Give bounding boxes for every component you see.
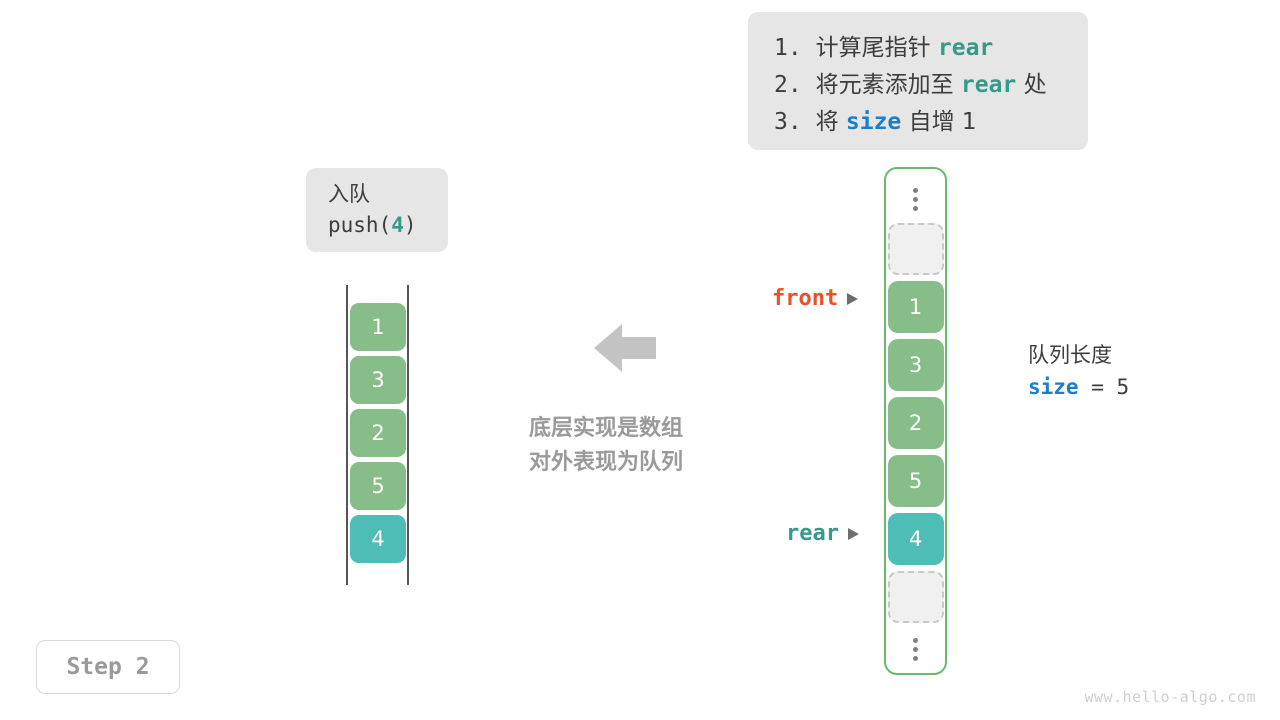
push-operation-panel: 入队 push(4) <box>306 168 448 252</box>
queue-cell: 2 <box>350 409 406 457</box>
push-title: 入队 <box>328 179 448 210</box>
instruction-line-1: 1. 计算尾指针 rear <box>774 30 1062 67</box>
caption-line-2: 对外表现为队列 <box>529 446 683 480</box>
caption: 底层实现是数组 对外表现为队列 <box>529 412 683 480</box>
instruction-panel: 1. 计算尾指针 rear 2. 将元素添加至 rear 处 3. 将 size… <box>748 12 1088 150</box>
instruction-keyword-rear-1: rear <box>938 35 993 61</box>
instruction-text-2a: 将元素添加至 <box>816 72 961 98</box>
push-call: push(4) <box>328 210 448 241</box>
queue-cell: 3 <box>350 356 406 404</box>
instruction-text-2b: 处 <box>1016 72 1046 98</box>
dot <box>913 656 918 661</box>
size-equals: = <box>1079 375 1117 399</box>
instruction-text-3b: 自增 1 <box>901 109 976 135</box>
push-call-suffix: ) <box>404 213 417 237</box>
instruction-keyword-size: size <box>846 109 901 135</box>
instruction-index-3: 3. <box>774 109 802 135</box>
push-call-value: 4 <box>391 213 404 237</box>
push-call-prefix: push( <box>328 213 391 237</box>
array-slot-new: 4 <box>888 513 944 565</box>
size-value: 5 <box>1117 375 1130 399</box>
array-slot-empty <box>888 571 944 623</box>
queue-cell: 1 <box>350 303 406 351</box>
array-slot-list: 1 3 2 5 4 <box>888 179 944 673</box>
queue-cell-new: 4 <box>350 515 406 563</box>
instruction-text-1a: 计算尾指针 <box>816 35 938 61</box>
rear-pointer-text: rear <box>786 521 839 546</box>
instruction-index-2: 2. <box>774 72 802 98</box>
rear-pointer-label: rear <box>786 521 859 546</box>
queue-cell: 5 <box>350 462 406 510</box>
queue-view-column: 1 3 2 5 4 <box>340 280 416 592</box>
rear-arrow-icon <box>848 528 859 540</box>
array-slot: 3 <box>888 339 944 391</box>
size-variable-name: size <box>1028 375 1079 399</box>
instruction-text-3a: 将 <box>816 109 846 135</box>
diagram-canvas: 1. 计算尾指针 rear 2. 将元素添加至 rear 处 3. 将 size… <box>0 0 1280 720</box>
dot <box>913 197 918 202</box>
dot <box>913 638 918 643</box>
array-view-container: 1 3 2 5 4 <box>884 167 947 675</box>
queue-cell-list: 1 3 2 5 4 <box>350 303 406 568</box>
instruction-index-1: 1. <box>774 35 802 61</box>
front-arrow-icon <box>847 293 858 305</box>
size-note: 队列长度 size = 5 <box>1028 340 1129 404</box>
size-note-value: size = 5 <box>1028 370 1129 404</box>
array-slot: 5 <box>888 455 944 507</box>
size-note-title: 队列长度 <box>1028 340 1129 370</box>
instruction-keyword-rear-2: rear <box>961 72 1016 98</box>
array-ellipsis-top-icon <box>888 179 944 219</box>
array-slot-empty <box>888 223 944 275</box>
array-slot: 1 <box>888 281 944 333</box>
dot <box>913 188 918 193</box>
step-badge: Step 2 <box>36 640 180 694</box>
instruction-line-2: 2. 将元素添加至 rear 处 <box>774 67 1062 104</box>
dot <box>913 206 918 211</box>
caption-line-1: 底层实现是数组 <box>529 412 683 446</box>
dot <box>913 647 918 652</box>
front-pointer-label: front <box>772 286 858 311</box>
watermark: www.hello-algo.com <box>1084 688 1256 706</box>
instruction-line-3: 3. 将 size 自增 1 <box>774 104 1062 141</box>
front-pointer-text: front <box>772 286 838 311</box>
queue-rail-left <box>346 285 348 585</box>
array-ellipsis-bottom-icon <box>888 629 944 669</box>
queue-rail-right <box>407 285 409 585</box>
left-arrow-icon <box>594 320 656 380</box>
array-slot: 2 <box>888 397 944 449</box>
